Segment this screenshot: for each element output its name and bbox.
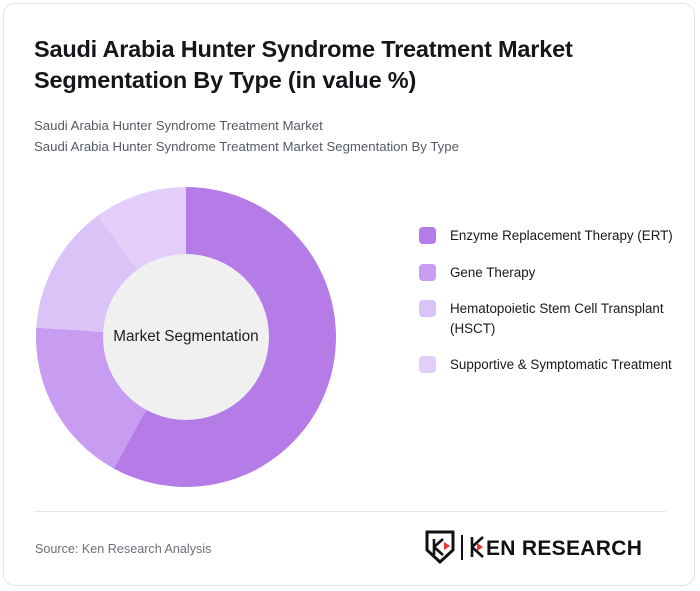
legend-item-label: Supportive & Symptomatic Treatment [450,355,672,375]
ken-research-logo: EN RESEARCH [425,528,665,566]
legend-color-swatch [419,356,436,373]
donut-chart: Market Segmentation [33,184,339,490]
source-note: Source: Ken Research Analysis [35,542,211,556]
chart-legend: Enzyme Replacement Therapy (ERT)Gene The… [419,226,674,375]
donut-inner-circle [103,254,269,420]
logo-separator [461,535,463,560]
legend-item[interactable]: Hematopoietic Stem Cell Transplant (HSCT… [419,299,674,338]
chart-area: Market Segmentation Enzyme Replacement T… [4,154,695,509]
legend-item[interactable]: Supportive & Symptomatic Treatment [419,355,674,375]
legend-item-label: Hematopoietic Stem Cell Transplant (HSCT… [450,299,674,338]
legend-item[interactable]: Gene Therapy [419,263,674,283]
legend-color-swatch [419,264,436,281]
svg-text:EN RESEARCH: EN RESEARCH [486,537,642,560]
donut-chart-svg [33,184,339,490]
legend-color-swatch [419,300,436,317]
ken-research-wordmark: EN RESEARCH [470,534,665,560]
chart-card: Saudi Arabia Hunter Syndrome Treatment M… [3,3,695,586]
legend-item[interactable]: Enzyme Replacement Therapy (ERT) [419,226,674,246]
chart-subtitle: Saudi Arabia Hunter Syndrome Treatment M… [34,116,654,157]
footer-divider [34,511,666,512]
subtitle-line-1: Saudi Arabia Hunter Syndrome Treatment M… [34,116,654,137]
legend-item-label: Enzyme Replacement Therapy (ERT) [450,226,673,246]
ken-research-shield-icon [425,530,455,564]
legend-color-swatch [419,227,436,244]
page-title: Saudi Arabia Hunter Syndrome Treatment M… [34,34,654,96]
legend-item-label: Gene Therapy [450,263,535,283]
